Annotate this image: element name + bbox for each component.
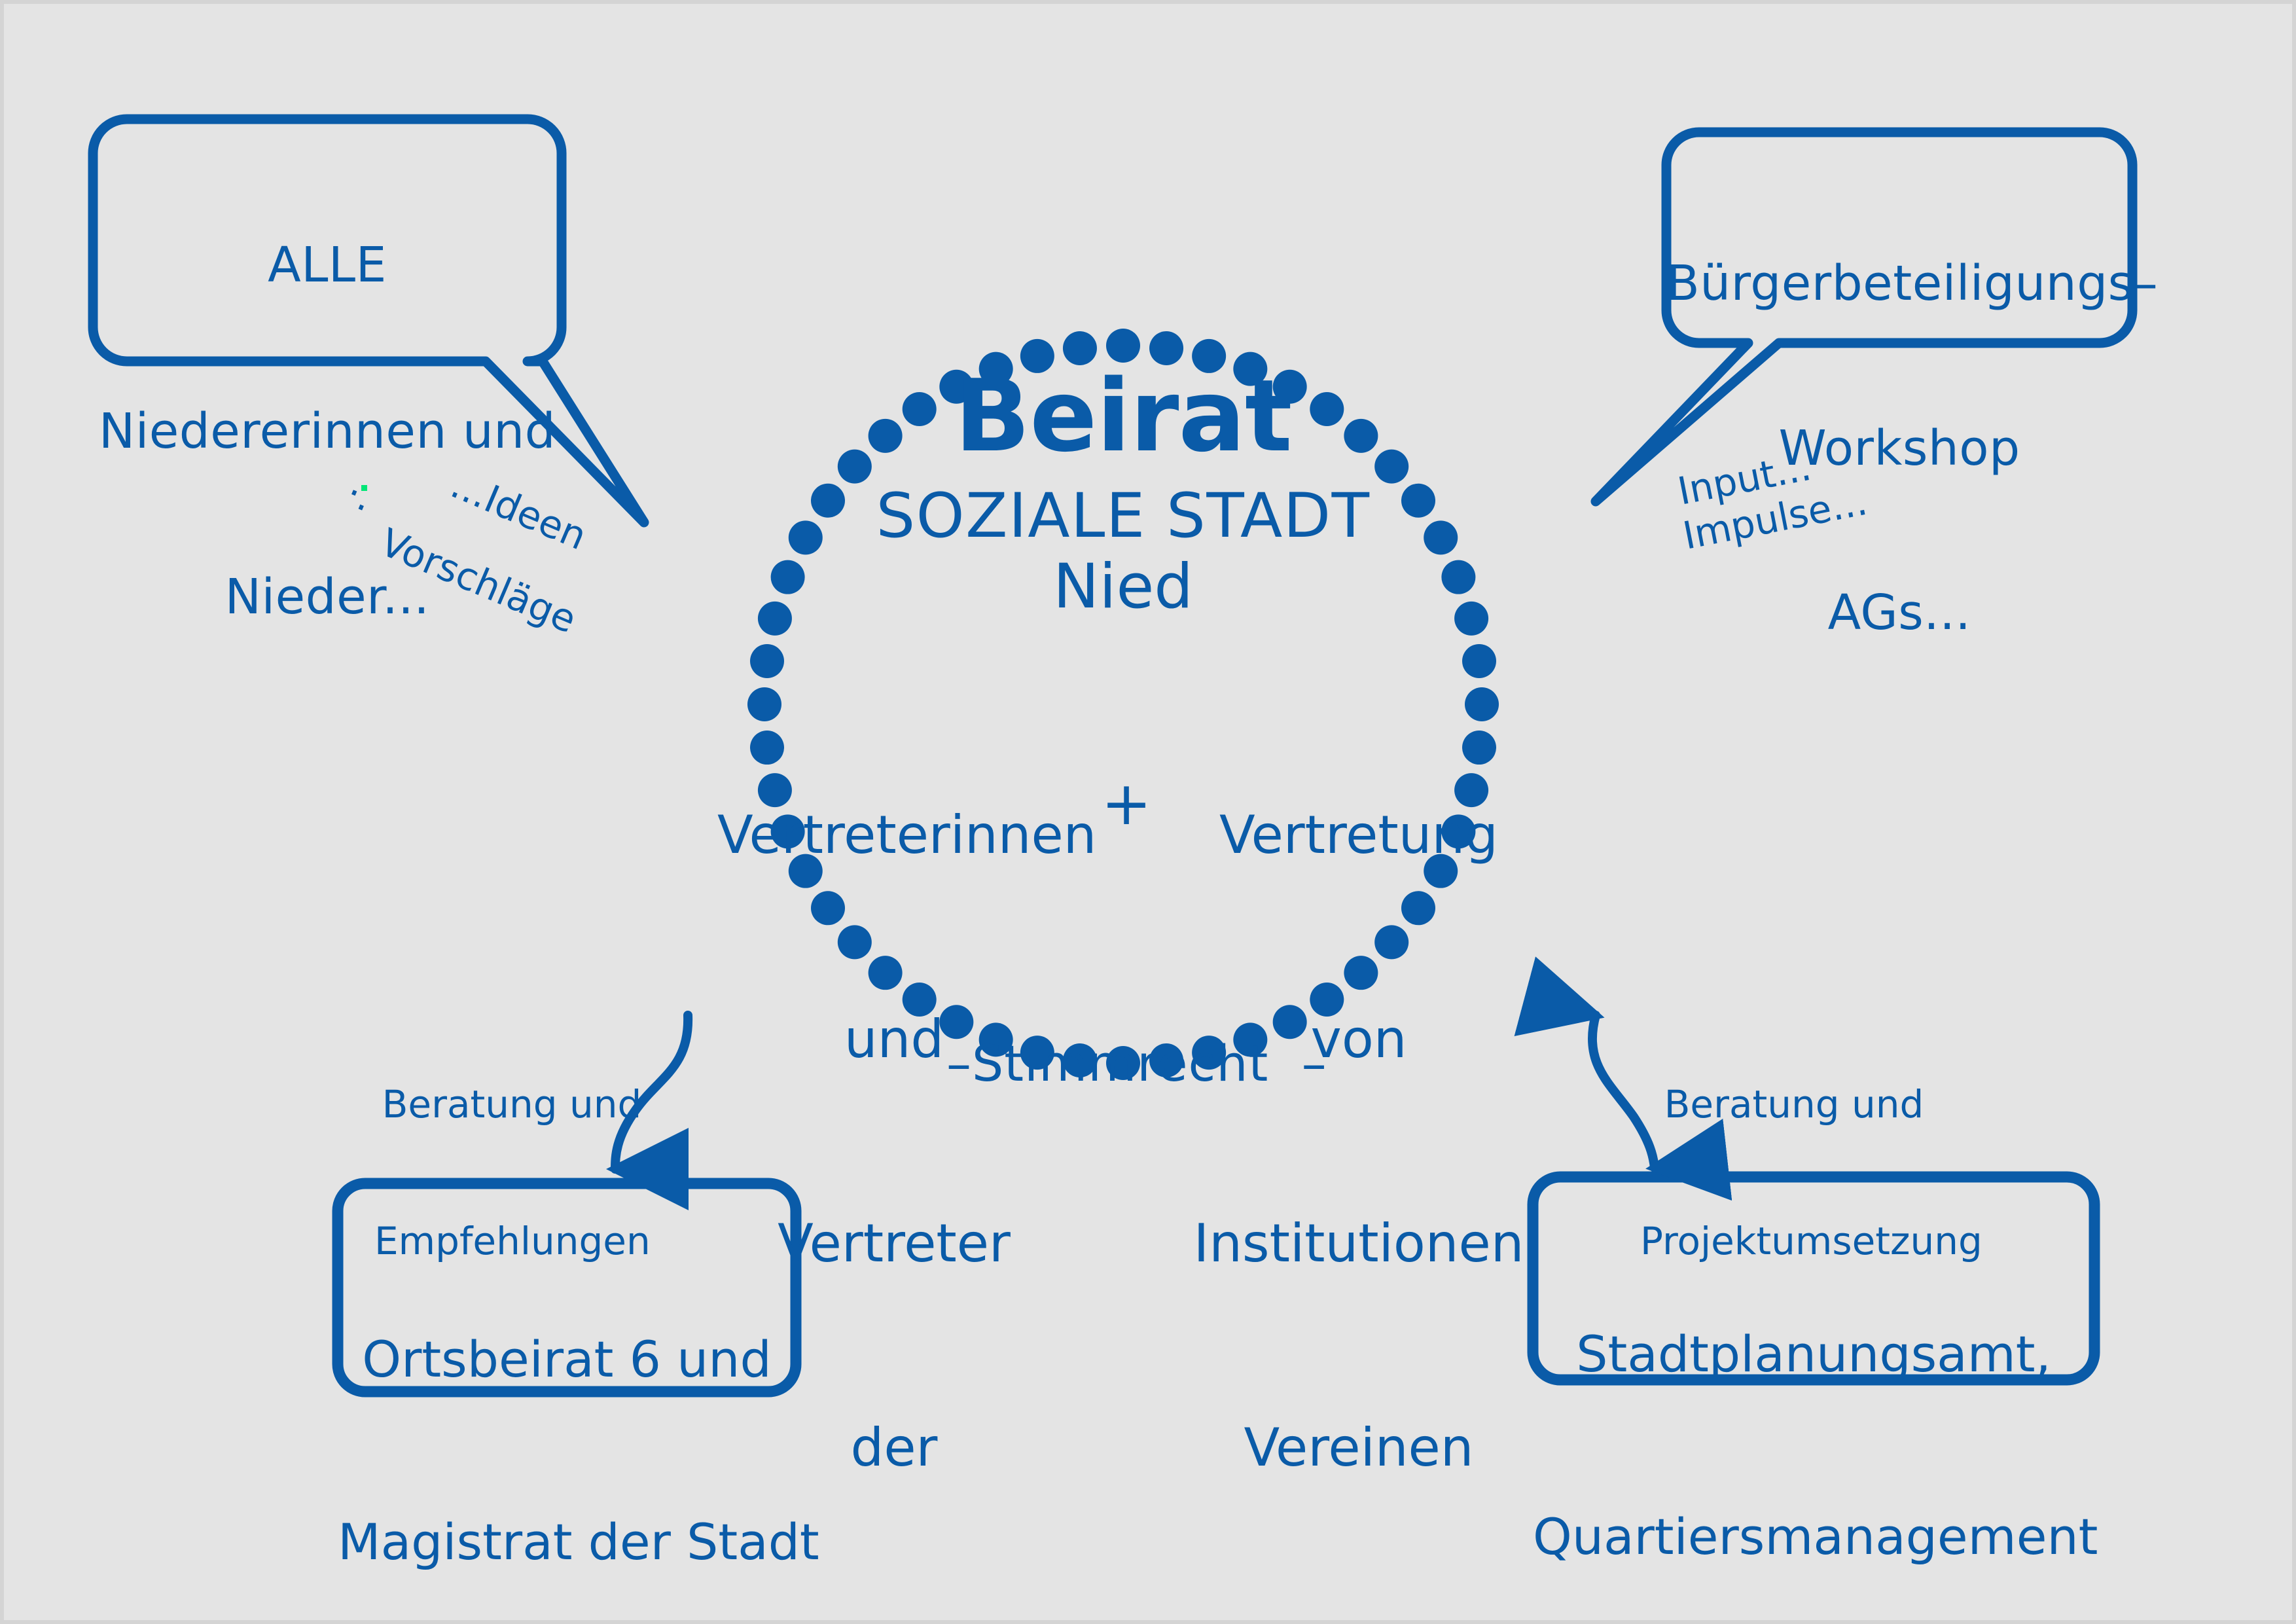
box-bl-line-1: Ortsbeirat 6 und	[338, 1329, 796, 1390]
right-col-line-1: Vertretung	[1182, 801, 1535, 869]
box-bl-line-2: Magistrat der Stadt	[338, 1512, 796, 1573]
right-col-line-4: Vereinen	[1182, 1414, 1535, 1482]
speech-bubble-right-text: Bürgerbeteiligungs– Workshop AGs...	[1666, 153, 2132, 744]
bubble-left-line-2: Niedererinnen und	[93, 406, 562, 458]
center-subtitle-line-2: Nied	[796, 554, 1450, 621]
center-footnote-stimmrecht: –Stimmrecht –	[946, 1037, 1313, 1091]
center-title: Beirat	[829, 363, 1418, 470]
arrow-label-bl-line-1: Beratung und	[374, 1082, 649, 1128]
circle-dot	[1454, 602, 1488, 636]
right-col-line-3: Institutionen	[1182, 1210, 1535, 1278]
center-right-column: Vertretung von Institutionen Vereinen In…	[1182, 665, 1535, 1620]
center-subtitle-line-1: SOZIALE STADT	[796, 483, 1450, 550]
diagram-canvas: ALLE Niedererinnen und Nieder... Bürgerb…	[4, 4, 2292, 1620]
bubble-left-line-1: ALLE	[93, 240, 562, 292]
box-bottom-right-text: Stadtplanungsamt, Quartiersmanagement un…	[1533, 1203, 2094, 1620]
bubble-right-line-3: AGs...	[1666, 587, 2132, 640]
center-operator-plus: +	[1090, 771, 1162, 836]
speech-bubble-left-text: ALLE Niedererinnen und Nieder...	[93, 135, 562, 729]
circle-dot	[758, 602, 792, 636]
arrow-label-br-line-1: Beratung und	[1640, 1082, 1948, 1128]
box-br-line-1: Stadtplanungsamt,	[1533, 1324, 2094, 1385]
right-col-line-5: Initiativen	[1182, 1618, 1535, 1620]
box-bottom-left-text: Ortsbeirat 6 und Magistrat der Stadt Fra…	[338, 1208, 796, 1620]
box-br-line-2: Quartiersmanagement	[1533, 1507, 2094, 1568]
left-col-line-1: Vertreterinnen	[717, 801, 1071, 869]
bubble-right-line-1: Bürgerbeteiligungs–	[1666, 258, 2132, 310]
